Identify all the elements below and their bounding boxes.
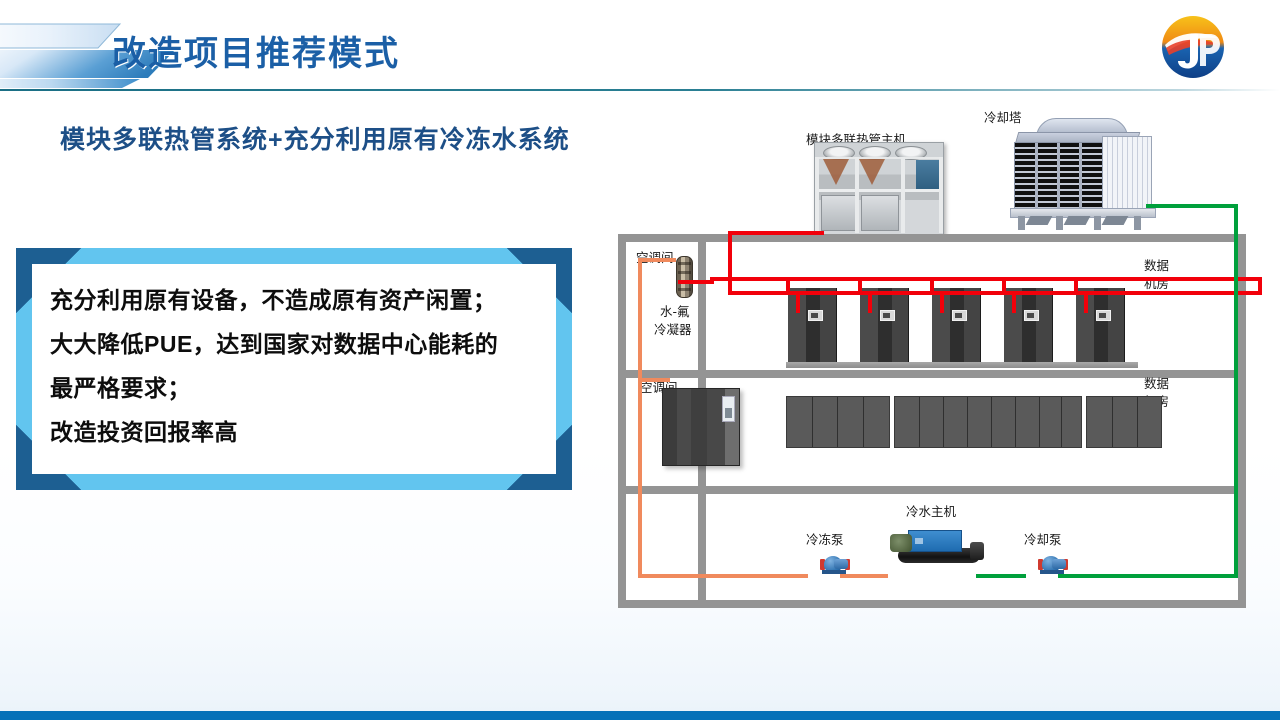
pipe-refrigerant-drop — [1012, 291, 1016, 313]
pipe-refrigerant-drop — [930, 277, 934, 295]
pipe-refrigerant — [1258, 277, 1262, 295]
pipe-cooling-water — [1146, 204, 1238, 208]
pipe-refrigerant — [728, 231, 824, 235]
pipe-chilled-water — [840, 574, 888, 578]
label-chilled-pump: 冷冻泵 — [806, 532, 844, 547]
callout-inner-panel: 充分利用原有设备，不造成原有资产闲置； 大大降低PUE，达到国家对数据中心能耗的… — [32, 264, 556, 474]
label-chiller: 冷水主机 — [906, 504, 956, 519]
room-divider — [698, 242, 706, 370]
section-subtitle: 模块多联热管系统+充分利用原有冷冻水系统 — [60, 120, 570, 156]
room-divider — [698, 486, 706, 600]
pipe-cooling-water — [1234, 204, 1238, 576]
pipe-chilled-water — [638, 258, 642, 578]
water-chiller-unit — [890, 524, 986, 568]
pipe-refrigerant-drop — [868, 291, 872, 313]
pipe-refrigerant-drop — [796, 291, 800, 313]
pipe-refrigerant-drop — [858, 277, 862, 295]
label-condenser-line2: 冷凝器 — [654, 322, 692, 337]
pipe-chilled-water — [638, 574, 808, 578]
callout-line: 大大降低PUE，达到国家对数据中心能耗的 — [50, 322, 546, 366]
cooling-tower-unit — [1006, 118, 1158, 230]
pipe-chilled-water — [638, 258, 676, 262]
label-cooling-pump: 冷却泵 — [1024, 532, 1062, 547]
callout-line: 改造投资回报率高 — [50, 410, 546, 454]
water-fluorine-condenser — [676, 256, 693, 298]
precision-ac-unit — [662, 388, 740, 466]
rack-group — [894, 396, 1082, 448]
pipe-refrigerant-drop — [1074, 277, 1078, 295]
page-title: 改造项目推荐模式 — [112, 26, 400, 75]
pipe-refrigerant-drop — [1002, 277, 1006, 295]
pipe-refrigerant-drop — [940, 291, 944, 313]
pipe-refrigerant — [678, 280, 714, 284]
pipe-refrigerant — [710, 277, 1262, 281]
server-rack-row — [786, 394, 1162, 448]
pipe-refrigerant-drop — [786, 277, 790, 295]
pipe-refrigerant-drop — [1084, 291, 1088, 313]
jp-logo-icon — [1160, 14, 1226, 80]
cooling-tower-side-panel — [1102, 136, 1152, 212]
system-schematic-diagram: 模块多联热管主机 冷却塔 — [606, 100, 1278, 620]
benefits-callout-box: 充分利用原有设备，不造成原有资产闲置； 大大降低PUE，达到国家对数据中心能耗的… — [16, 248, 572, 490]
cooling-water-pump — [1036, 554, 1068, 574]
label-data-room-top-1: 数据 — [1144, 258, 1169, 273]
header-divider — [0, 89, 1280, 91]
pipe-chilled-water — [638, 378, 670, 382]
rack-group — [786, 396, 890, 448]
pipe-cooling-water — [1058, 574, 1238, 578]
pipe-cooling-water — [976, 574, 1026, 578]
footer-bar — [0, 711, 1280, 720]
callout-line: 最严格要求； — [50, 366, 546, 410]
label-condenser-line1: 水-氟 — [660, 304, 690, 319]
slide-header: 改造项目推荐模式 — [0, 0, 1280, 92]
floor-divider — [626, 486, 1238, 494]
cooling-tower-louvers — [1014, 142, 1104, 212]
pipe-refrigerant — [728, 231, 732, 295]
rack-group — [1086, 396, 1162, 448]
slide-root: 改造项目推荐模式 模块多联热管系统+充分利用原有冷冻水系统 — [0, 0, 1280, 720]
pipe-refrigerant — [728, 291, 1262, 295]
callout-line: 充分利用原有设备，不造成原有资产闲置； — [50, 278, 546, 322]
label-data-room-mid-1: 数据 — [1144, 376, 1169, 391]
heat-pipe-host-unit — [814, 142, 944, 236]
chilled-water-pump — [818, 554, 850, 574]
